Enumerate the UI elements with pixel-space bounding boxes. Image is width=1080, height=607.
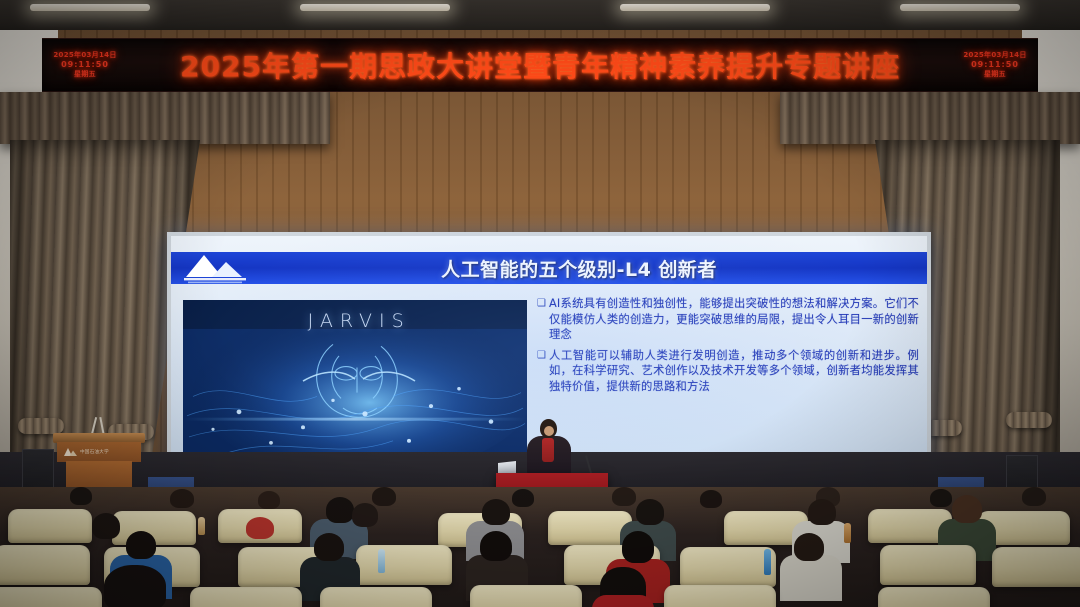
audience-head	[352, 503, 378, 527]
audience-head	[480, 531, 512, 561]
auditorium-seat[interactable]	[664, 585, 776, 607]
audience-head	[92, 513, 120, 539]
audience-head	[126, 531, 156, 559]
slide-bullet-text: AI系统具有创造性和独创性，能够提出突破性的想法和解决方案。它们不仅能模仿人类的…	[549, 296, 919, 343]
jarvis-label: JARVIS	[308, 310, 411, 332]
led-clock-right-time: 09:11:50	[952, 60, 1038, 70]
mountain-peak-logo	[181, 250, 255, 286]
audience-area	[0, 487, 1080, 607]
auditorium-seat[interactable]	[680, 547, 776, 587]
slide-bullet-item: ❑ AI系统具有创造性和独创性，能够提出突破性的想法和解决方案。它们不仅能模仿人…	[537, 296, 919, 343]
auditorium-seat[interactable]	[992, 547, 1080, 587]
water-bottle	[844, 523, 851, 543]
auditorium-seat[interactable]	[0, 545, 90, 585]
institution-logo-icon	[64, 446, 77, 458]
curtain-tieback-right	[1006, 412, 1052, 428]
auditorium-photo: 2025年03月14日 09:11:50 星期五 2025年第一期思政大讲堂暨青…	[0, 0, 1080, 607]
audience-head	[70, 487, 92, 505]
audience-head	[258, 491, 280, 509]
ceiling-light	[30, 4, 150, 11]
audience-head	[104, 565, 166, 607]
led-clock-right-date: 2025年03月14日	[952, 51, 1038, 60]
slide-title-bar: 人工智能的五个级别-L4 创新者	[171, 252, 927, 284]
audience-head	[482, 499, 510, 525]
water-bottle	[764, 549, 771, 575]
led-clock-left-date: 2025年03月14日	[42, 51, 128, 60]
audience-torso	[592, 595, 654, 607]
ceiling-light	[300, 4, 450, 11]
audience-head	[612, 487, 636, 506]
auditorium-seat[interactable]	[8, 509, 92, 543]
led-banner: 2025年03月14日 09:11:50 星期五 2025年第一期思政大讲堂暨青…	[42, 38, 1038, 92]
audience-head	[700, 490, 722, 508]
auditorium-seat[interactable]	[470, 585, 582, 607]
presenter	[524, 419, 574, 475]
curtain-tieback-left	[18, 418, 64, 434]
jarvis-ai-image: JARVIS	[183, 300, 527, 464]
bullet-square-icon: ❑	[537, 299, 549, 309]
auditorium-seat[interactable]	[356, 545, 452, 585]
water-bottle	[378, 549, 385, 573]
ceiling-light	[900, 4, 1020, 11]
audience-head	[808, 499, 836, 525]
presenter-scarf	[542, 438, 554, 462]
audience-head	[326, 497, 354, 523]
led-clock-right-weekday: 星期五	[952, 70, 1038, 79]
slide-bullet-text: 人工智能可以辅助人类进行发明创造，推动多个领域的创新和进步。例如，在科学研究、艺…	[549, 348, 919, 395]
audience-head	[372, 487, 396, 506]
auditorium-seat[interactable]	[190, 587, 302, 607]
led-clock-left-time: 09:11:50	[42, 60, 128, 70]
led-clock-left-weekday: 星期五	[42, 70, 128, 79]
audience-head	[314, 533, 344, 561]
audience-head	[930, 489, 952, 507]
curtain-valance-right	[780, 92, 1080, 144]
slide-title: 人工智能的五个级别-L4 创新者	[171, 255, 927, 282]
audience-head	[952, 495, 982, 523]
audience-head	[636, 499, 664, 525]
auditorium-seat[interactable]	[0, 587, 102, 607]
auditorium-seat[interactable]	[878, 587, 990, 607]
water-bottle	[198, 517, 205, 535]
led-banner-title: 2025年第一期思政大讲堂暨青年精神素养提升专题讲座	[128, 45, 952, 85]
ceiling-light	[620, 4, 770, 11]
audience-torso	[780, 555, 842, 601]
audience-head-hat	[246, 517, 274, 539]
presenter-face	[544, 426, 554, 436]
audience-head	[622, 531, 654, 563]
audience-head	[1022, 487, 1046, 506]
bullet-square-icon: ❑	[537, 351, 549, 361]
podium-logo-text: 中国石油大学	[80, 449, 109, 455]
audience-head	[170, 489, 194, 508]
led-clock-left: 2025年03月14日 09:11:50 星期五	[42, 51, 128, 79]
led-clock-right: 2025年03月14日 09:11:50 星期五	[952, 51, 1038, 79]
slide-bullet-list: ❑ AI系统具有创造性和独创性，能够提出突破性的想法和解决方案。它们不仅能模仿人…	[531, 292, 927, 470]
auditorium-seat[interactable]	[320, 587, 432, 607]
podium-front-panel: 中国石油大学	[57, 442, 141, 462]
audience-head	[512, 489, 534, 507]
curtain-valance-left	[0, 92, 330, 144]
auditorium-seat[interactable]	[880, 545, 976, 585]
slide-bullet-item: ❑ 人工智能可以辅助人类进行发明创造，推动多个领域的创新和进步。例如，在科学研究…	[537, 348, 919, 395]
audience-head	[794, 533, 824, 561]
